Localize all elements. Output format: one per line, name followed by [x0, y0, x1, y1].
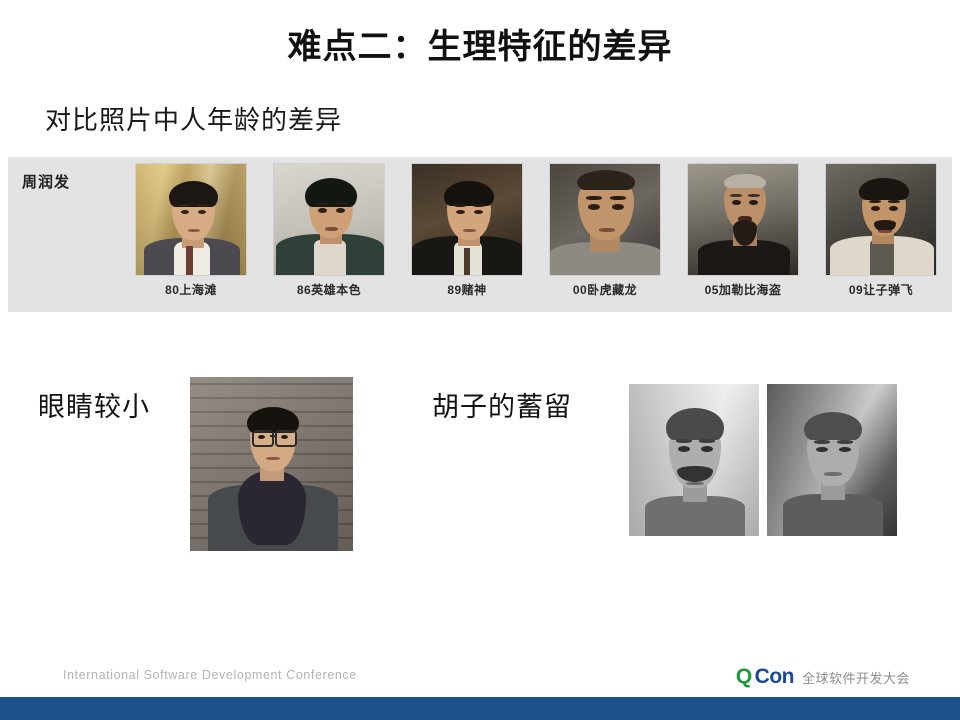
qcon-logo-q: Q — [736, 665, 752, 689]
filmstrip-item: 89赌神 — [404, 163, 530, 308]
comparison-right-label: 胡子的蓄留 — [432, 385, 572, 424]
actor-photo-1989 — [411, 163, 523, 276]
filmstrip-item: 00卧虎藏龙 — [542, 163, 668, 308]
filmstrip-caption: 89赌神 — [447, 281, 486, 298]
photo-with-mustache — [629, 384, 759, 536]
actor-photo-1980 — [135, 163, 247, 276]
actor-photo-2005 — [687, 163, 799, 276]
filmstrip-items: 80上海滩 86英雄本色 — [128, 163, 944, 308]
qcon-logo-chinese: 全球软件开发大会 — [802, 668, 910, 687]
footer-accent-bar — [0, 697, 960, 720]
page-title: 难点二：生理特征的差异 — [0, 28, 960, 67]
actor-photo-2000 — [549, 163, 661, 276]
filmstrip-item: 86英雄本色 — [266, 163, 392, 308]
actor-photo-1986 — [273, 163, 385, 276]
photo-man-with-glasses — [190, 377, 353, 551]
filmstrip-item: 09让子弹飞 — [818, 163, 944, 308]
photo-without-mustache — [767, 384, 897, 536]
mustache-photo-pair — [629, 384, 897, 536]
filmstrip-caption: 00卧虎藏龙 — [573, 281, 637, 298]
slide-canvas: 难点二：生理特征的差异 对比照片中人年龄的差异 周润发 — [0, 0, 960, 720]
filmstrip-person-label: 周润发 — [22, 171, 70, 192]
filmstrip-caption: 09让子弹飞 — [849, 281, 913, 298]
filmstrip-panel: 周润发 80上海滩 — [8, 157, 952, 312]
filmstrip-caption: 86英雄本色 — [297, 281, 361, 298]
footer-tagline: International Software Development Confe… — [63, 668, 357, 682]
page-subtitle: 对比照片中人年龄的差异 — [45, 100, 342, 137]
filmstrip-item: 80上海滩 — [128, 163, 254, 308]
filmstrip-caption: 05加勒比海盗 — [705, 281, 782, 298]
qcon-logo: Q Con 全球软件开发大会 — [736, 665, 910, 689]
filmstrip-caption: 80上海滩 — [165, 281, 217, 298]
comparison-left-label: 眼睛较小 — [38, 385, 150, 424]
qcon-logo-con: Con — [755, 665, 794, 689]
actor-photo-2009 — [825, 163, 937, 276]
filmstrip-item: 05加勒比海盗 — [680, 163, 806, 308]
